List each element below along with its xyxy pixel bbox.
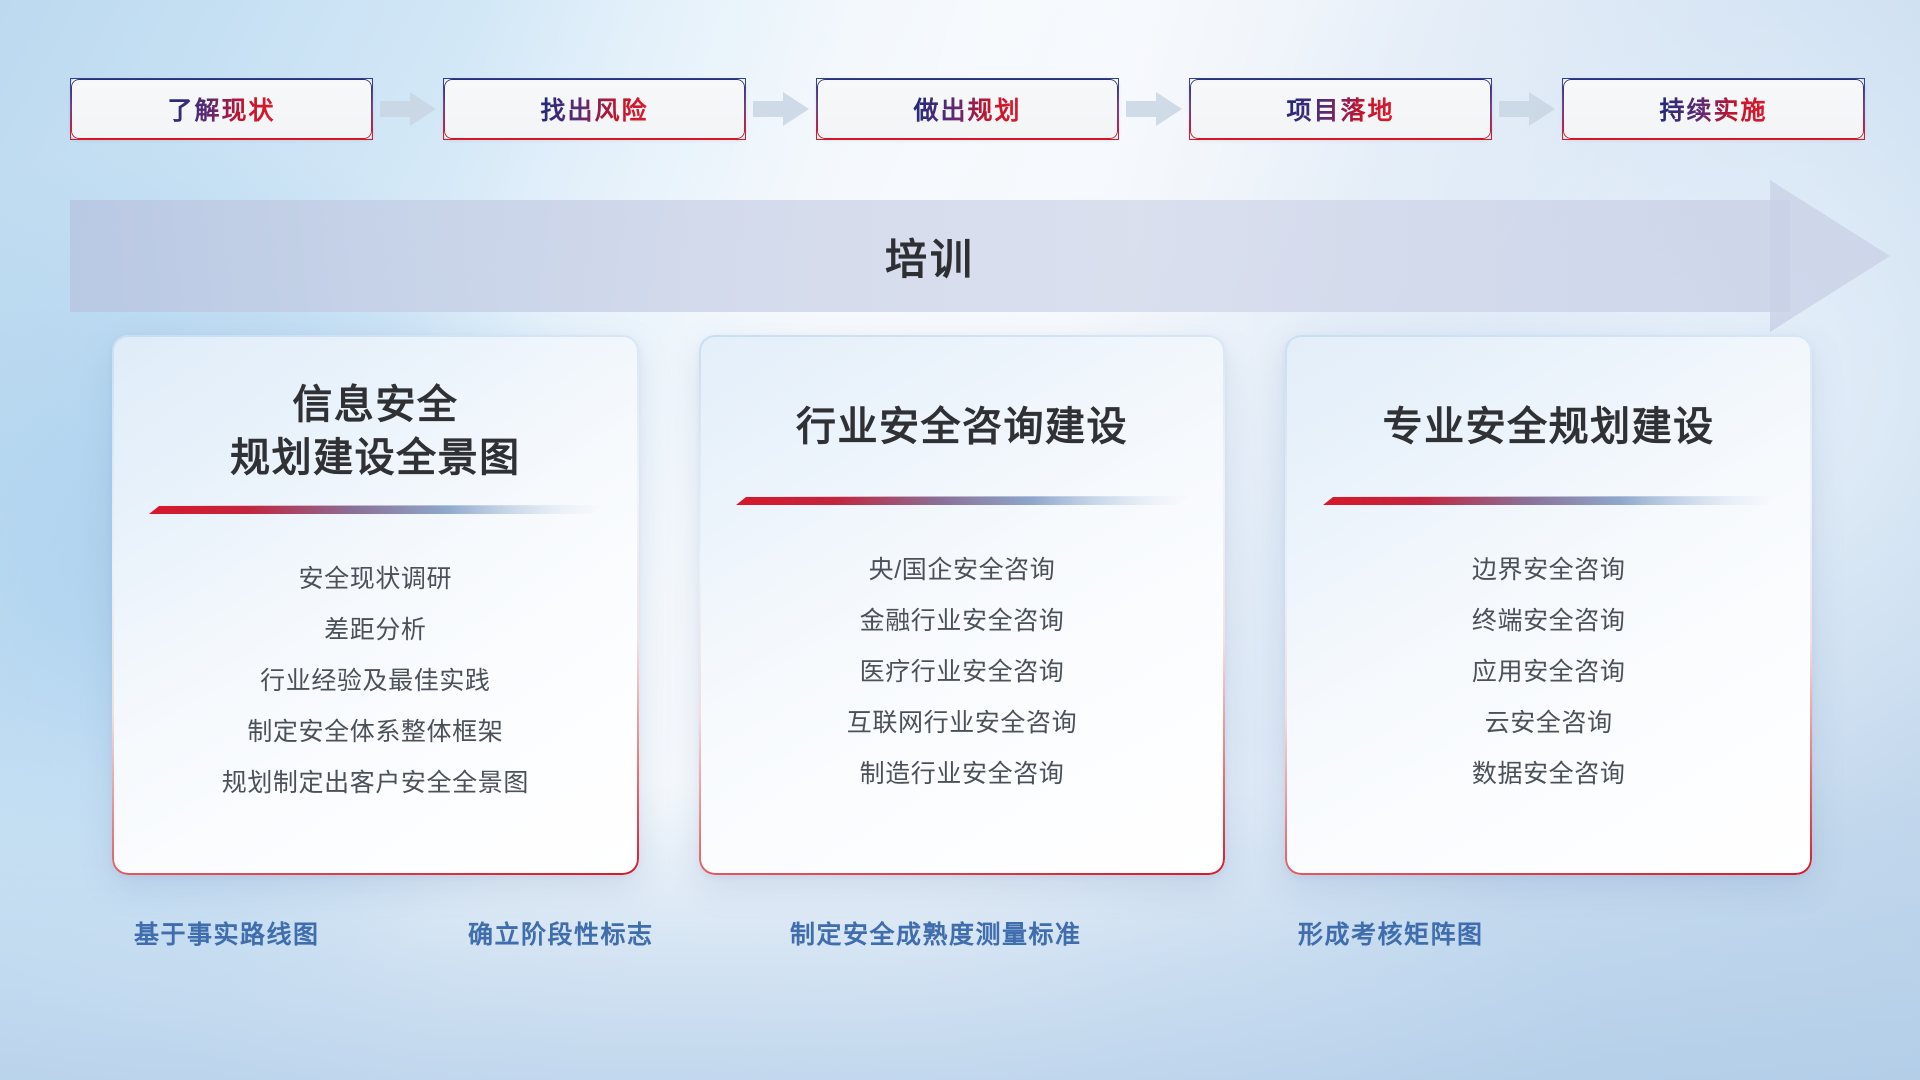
list-item: 行业经验及最佳实践 [260,656,490,707]
outcome-label-row: 基于事实路线图 确立阶段性标志 制定安全成熟度测量标准 形成考核矩阵图 [0,915,1920,965]
process-step-5-label: 持续实施 [1659,91,1767,127]
capability-card-1[interactable]: 信息安全 规划建设全景图 安全现状调研 差距分析 行 [112,335,639,875]
process-step-1[interactable]: 了解现状 [70,78,373,140]
gradient-divider-icon-3 [1323,496,1775,507]
outcome-label-1: 基于事实路线图 [134,915,320,951]
capability-card-2[interactable]: 行业安全咨询建设 央/国企安全咨询 金融行业安全咨询 [699,335,1226,875]
arrow-right-icon-4 [1499,92,1555,126]
arrow-right-icon-3 [1126,92,1182,126]
list-item: 规划制定出客户安全全景图 [222,758,529,809]
arrow-right-icon-1 [380,92,436,126]
list-item: 制造行业安全咨询 [860,749,1065,800]
capability-card-2-list: 央/国企安全咨询 金融行业安全咨询 医疗行业安全咨询 互联网行业安全咨询 制造行… [847,545,1077,800]
list-item: 边界安全咨询 [1472,545,1626,596]
process-step-4-label: 项目落地 [1286,91,1394,127]
process-step-3-label: 做出规划 [913,91,1021,127]
gradient-divider-icon-2 [736,496,1188,507]
training-banner-title: 培训 [70,200,1860,312]
list-item: 数据安全咨询 [1472,749,1626,800]
list-item: 终端安全咨询 [1472,596,1626,647]
list-item: 金融行业安全咨询 [860,596,1065,647]
list-item: 制定安全体系整体框架 [247,707,503,758]
process-step-flow: 了解现状 找出风险 做出规划 项目落地 持续实施 [70,78,1860,140]
process-step-5[interactable]: 持续实施 [1562,78,1865,140]
capability-card-2-title: 行业安全咨询建设 [796,401,1128,454]
outcome-label-2: 确立阶段性标志 [468,915,654,951]
process-step-2[interactable]: 找出风险 [443,78,746,140]
gradient-divider-icon-1 [149,505,601,516]
arrow-right-icon-2 [753,92,809,126]
list-item: 云安全咨询 [1485,698,1613,749]
capability-card-3[interactable]: 专业安全规划建设 边界安全咨询 终端安全咨询 应用安 [1285,335,1812,875]
list-item: 安全现状调研 [299,554,453,605]
capability-card-3-title: 专业安全规划建设 [1383,401,1715,454]
process-step-4[interactable]: 项目落地 [1189,78,1492,140]
process-step-2-label: 找出风险 [540,91,648,127]
list-item: 应用安全咨询 [1472,647,1626,698]
capability-card-row: 信息安全 规划建设全景图 安全现状调研 差距分析 行 [112,335,1812,875]
training-banner: 培训 [70,200,1860,312]
process-step-3[interactable]: 做出规划 [816,78,1119,140]
list-item: 医疗行业安全咨询 [860,647,1065,698]
capability-card-3-list: 边界安全咨询 终端安全咨询 应用安全咨询 云安全咨询 数据安全咨询 [1472,545,1626,800]
capability-card-1-title: 信息安全 规划建设全景图 [230,379,521,485]
outcome-label-3: 制定安全成熟度测量标准 [790,915,1082,951]
list-item: 差距分析 [324,605,426,656]
list-item: 央/国企安全咨询 [869,545,1056,596]
list-item: 互联网行业安全咨询 [847,698,1077,749]
capability-card-1-list: 安全现状调研 差距分析 行业经验及最佳实践 制定安全体系整体框架 规划制定出客户… [222,554,529,809]
process-step-1-label: 了解现状 [167,91,275,127]
outcome-label-4: 形成考核矩阵图 [1298,915,1484,951]
